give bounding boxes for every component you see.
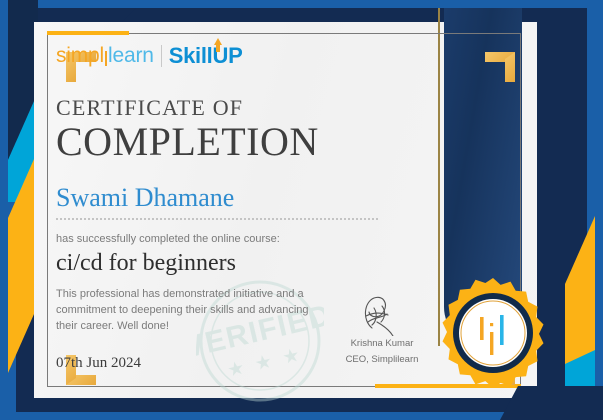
logo-i-bar-icon [105,51,107,66]
signatory-name: Krishna Kumar [330,338,434,349]
issue-date: 07th Jun 2024 [56,355,141,372]
corner-bracket-top-right [485,52,515,82]
gold-accent-top [47,31,129,35]
recipient-underline [56,218,378,220]
navy-wedge-bottom-right [500,386,603,420]
logo-up-arrow-stem-icon [216,44,220,52]
logo-skillup-p: P [228,43,242,68]
gold-seal-badge [436,276,550,390]
achievement-description: This professional has demonstrated initi… [56,286,328,334]
logo-skillup-text: SkillUP [169,43,243,69]
simplilearn-skillup-logo: simpl learn SkillUP [56,43,242,69]
certificate-document: VERIFIED ★ ★ ★ simpl learn SkillUP CERTI… [0,0,603,420]
signature-block: Krishna Kumar CEO, Simplilearn [330,292,434,365]
recipient-name: Swami Dhamane [56,183,234,213]
logo-learn-text: learn [108,44,154,68]
logo-divider [161,45,162,67]
signatory-role: CEO, Simplilearn [330,354,434,365]
course-lead-in-text: has successfully completed the online co… [56,233,280,245]
page-title-line2: COMPLETION [56,118,319,165]
handwritten-signature-icon [330,292,434,336]
logo-skillup-prefix: Skill [169,43,213,68]
course-title: ci/cd for beginners [56,250,236,277]
logo-simpli-text: simpl [56,44,104,68]
